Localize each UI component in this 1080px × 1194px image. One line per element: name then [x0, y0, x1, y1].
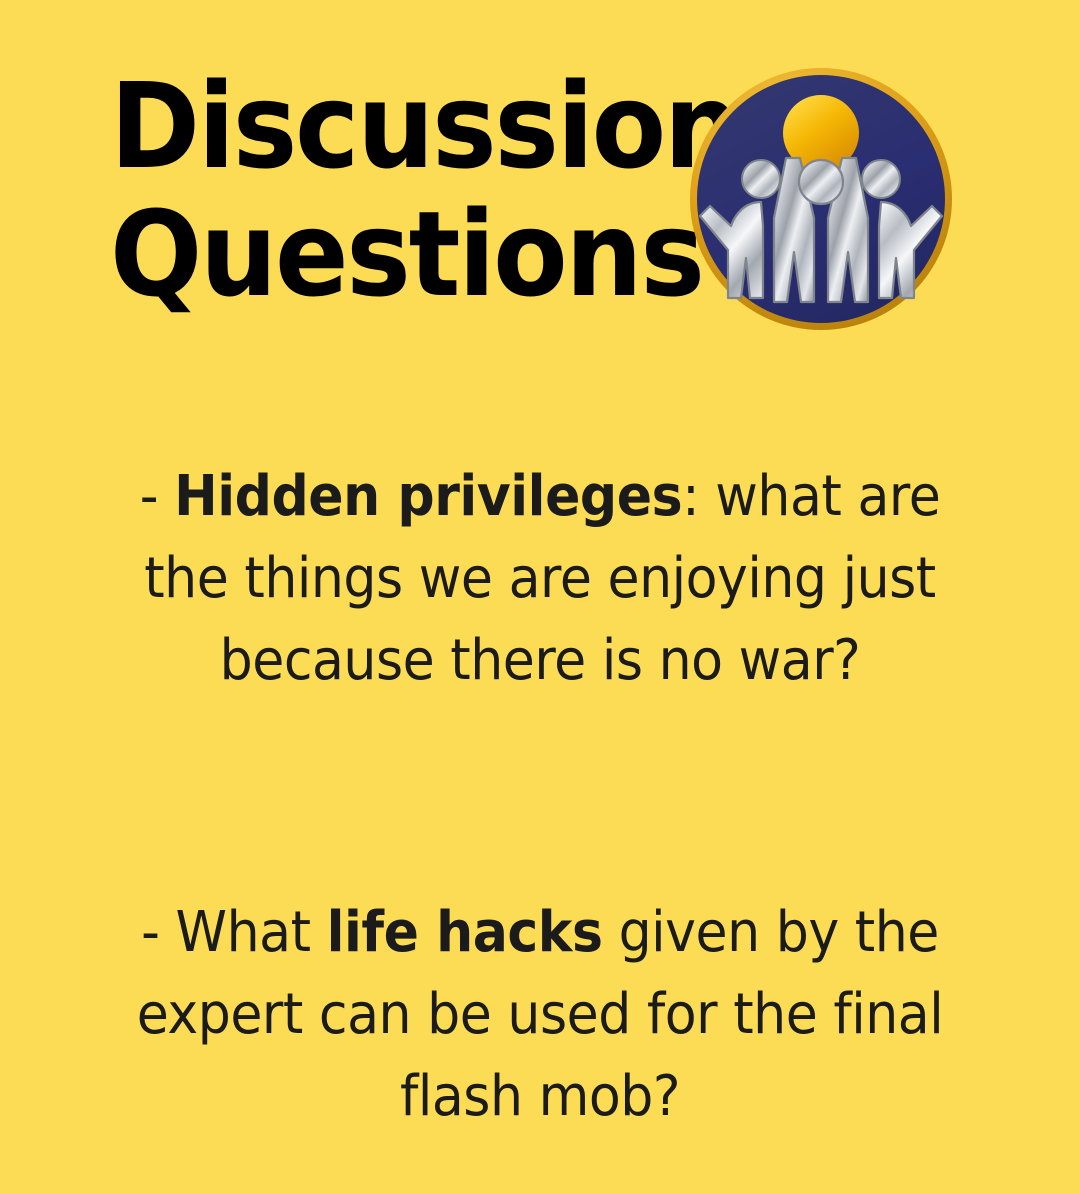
question-2-bullet: -	[141, 900, 175, 965]
question-1-bold-lead: Hidden privileges	[174, 464, 682, 529]
slide-header: Discussion Questions	[0, 0, 1080, 350]
logo-svg	[688, 66, 954, 332]
questions-list: - Hidden privileges: what are the things…	[70, 400, 1010, 1194]
page-title: Discussion Questions	[110, 62, 690, 318]
question-item-1: - Hidden privileges: what are the things…	[103, 456, 977, 702]
slide-canvas: Discussion Questions	[0, 0, 1080, 1080]
questions-spacer	[70, 758, 1010, 836]
page-title-line-1: Discussion	[110, 62, 644, 190]
question-2-bold-mid: life hacks	[327, 900, 603, 965]
question-1-bullet: -	[140, 464, 174, 529]
person-center-head-icon	[799, 160, 843, 204]
page-title-line-2: Questions	[110, 190, 644, 318]
question-2-pre: What	[176, 900, 327, 965]
question-item-2: - What life hacks given by the expert ca…	[103, 892, 977, 1138]
three-people-circle-logo	[688, 66, 954, 332]
